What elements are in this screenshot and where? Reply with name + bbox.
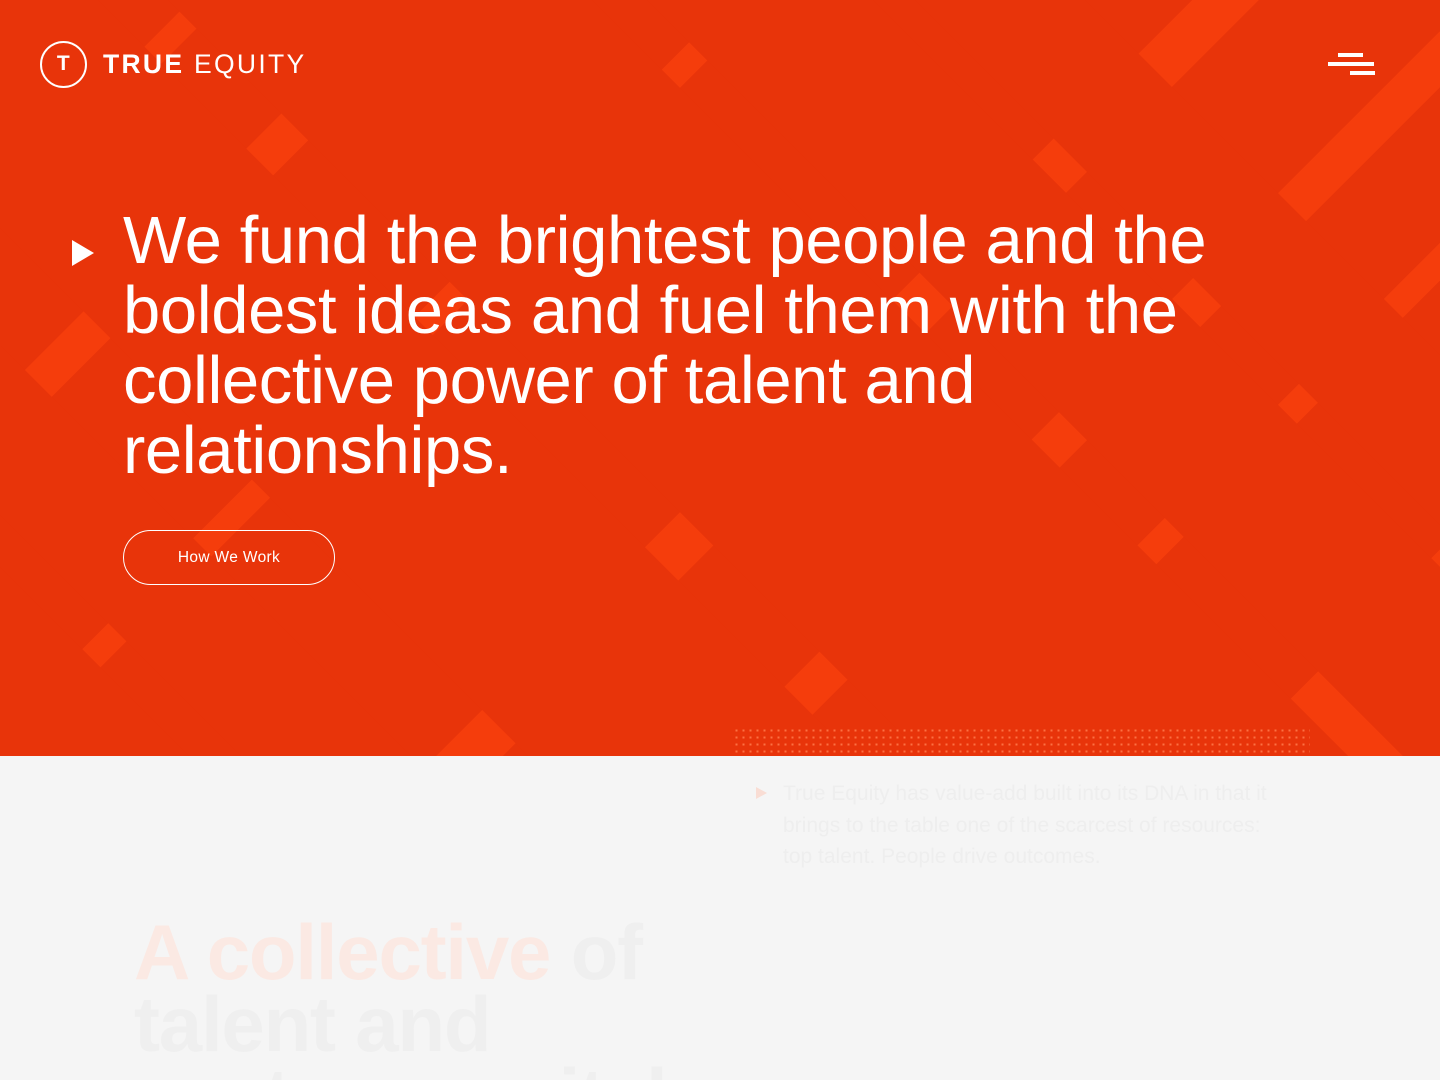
brand-logo-link[interactable]: T TRUE EQUITY (40, 41, 306, 88)
hero-headline: We fund the brightest people and the bol… (123, 206, 1285, 486)
hero-section: T TRUE EQUITY We fund the brightest peop… (0, 0, 1440, 756)
headline-row: We fund the brightest people and the bol… (72, 206, 1312, 486)
menu-line-bottom (1350, 71, 1375, 75)
intro-paragraph: True Equity has value-add built into its… (783, 778, 1276, 873)
intro-paragraph-row: True Equity has value-add built into its… (756, 778, 1276, 873)
menu-line-top (1338, 53, 1363, 57)
feature-heading: A collective of talent and venture capit… (134, 916, 774, 1080)
site-header: T TRUE EQUITY (0, 0, 1440, 128)
play-triangle-icon (756, 787, 767, 799)
intro-section: True Equity has value-add built into its… (0, 756, 1440, 1080)
brand-wordmark: TRUE EQUITY (103, 51, 306, 78)
hamburger-menu-icon[interactable] (1322, 47, 1378, 81)
logo-letter: T (57, 53, 70, 74)
brand-name-light-word: EQUITY (194, 49, 306, 79)
circle-t-logo-icon: T (40, 41, 87, 88)
page-root: T TRUE EQUITY We fund the brightest peop… (0, 0, 1440, 1080)
menu-line-middle (1328, 62, 1374, 66)
brand-name-light (184, 49, 194, 79)
brand-name-strong: TRUE (103, 49, 184, 79)
hero-copy: We fund the brightest people and the bol… (72, 206, 1312, 585)
halftone-dot-band (733, 727, 1310, 756)
play-triangle-icon (72, 240, 94, 266)
how-we-work-button[interactable]: How We Work (123, 530, 335, 585)
